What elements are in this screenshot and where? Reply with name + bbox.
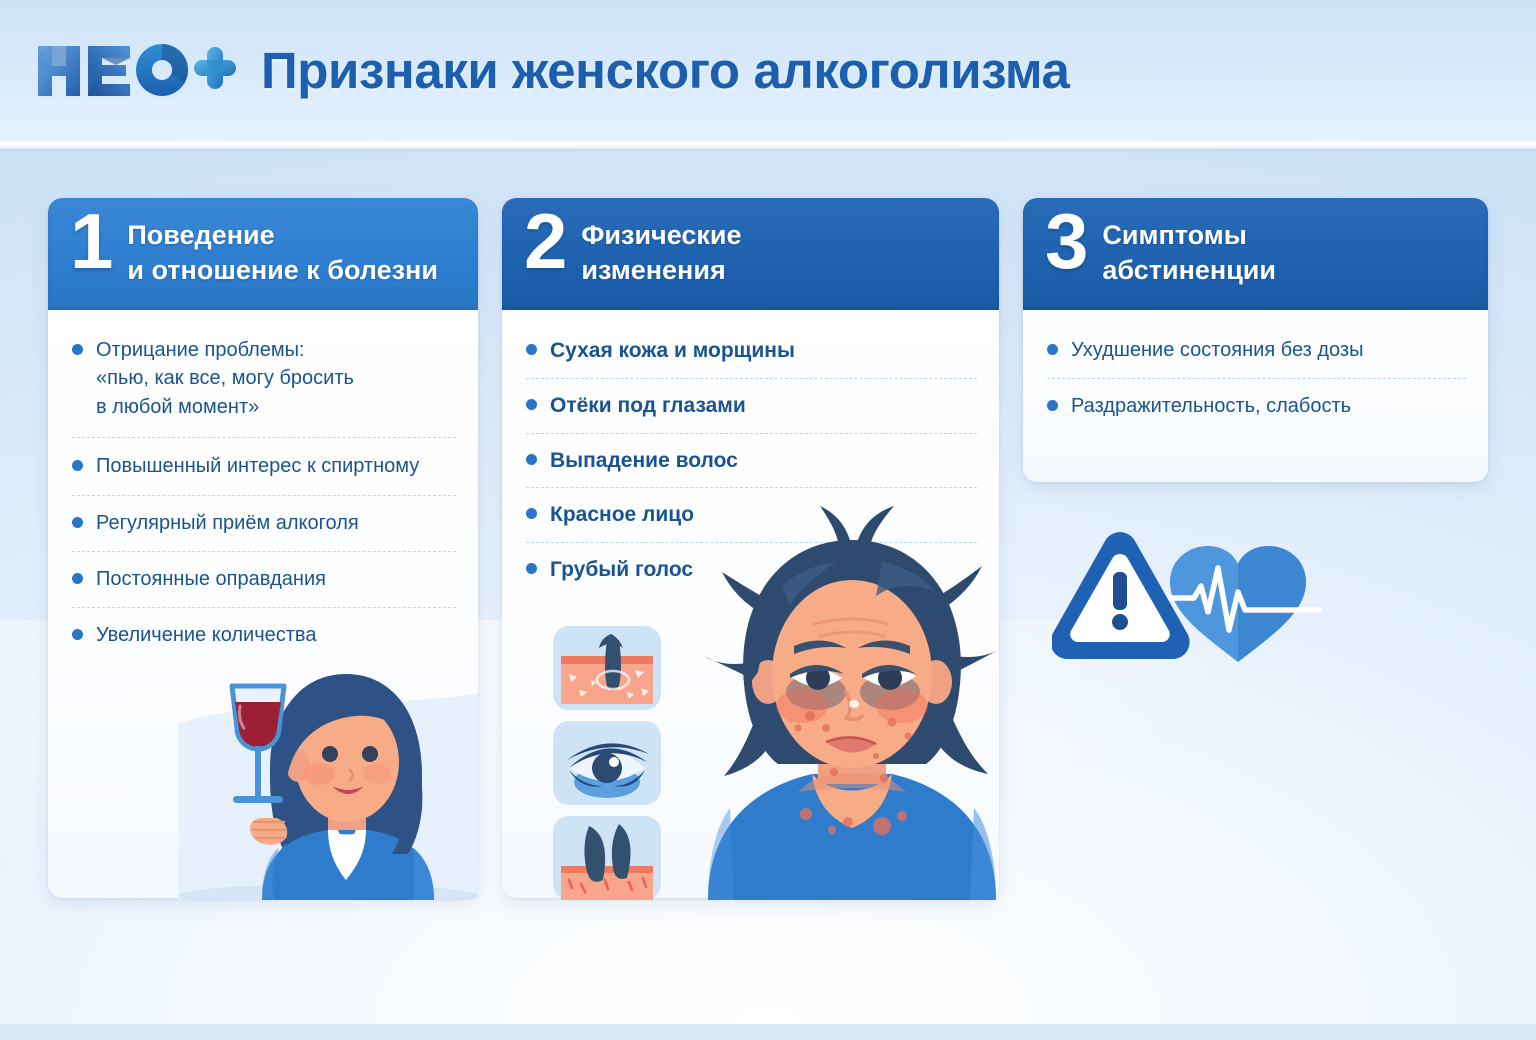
card-physical-header: 2 Физические изменения (502, 198, 999, 310)
bullet-dot-icon (526, 454, 537, 465)
bullet-dot-icon (72, 629, 83, 640)
list-item-line: «пью, как все, могу бросить (96, 364, 354, 392)
card-title-line2: и отношение к болезни (127, 253, 438, 288)
list-item-text: Грубый голос (550, 555, 693, 585)
physical-list: Сухая кожа и морщины Отёки под глазами В… (526, 336, 977, 597)
card-number: 2 (524, 210, 567, 274)
list-item-text: Сухая кожа и морщины (550, 336, 795, 366)
card-title: Поведение и отношение к болезни (127, 212, 438, 288)
list-item-line: Отрицание проблемы: (96, 336, 354, 364)
card-physical-body: Сухая кожа и морщины Отёки под глазами В… (502, 310, 999, 619)
list-item-text: Ухудшение состояния без дозы (1071, 336, 1363, 364)
list-item-line: в любой момент» (96, 393, 354, 421)
card-behavior-body: Отрицание проблемы: «пью, как все, могу … (48, 310, 478, 687)
list-item-text: Выпадение волос (550, 446, 738, 476)
card-title-line1: Симптомы (1102, 220, 1246, 250)
bullet-dot-icon (526, 508, 537, 519)
list-item-text: Отёки под глазами (550, 391, 746, 421)
list-item: Повышенный интерес к спиртному (72, 452, 456, 495)
card-title-line2: изменения (581, 253, 741, 288)
card-number: 3 (1045, 210, 1088, 274)
list-item: Ухудшение состояния без дозы (1047, 336, 1466, 379)
list-item-text: Раздражительность, слабость (1071, 392, 1351, 420)
card-title-line1: Физические (581, 220, 741, 250)
list-item-text: Красное лицо (550, 500, 694, 530)
list-item: Раздражительность, слабость (1047, 392, 1466, 434)
list-item: Красное лицо (526, 500, 977, 543)
list-item-text: Повышенный интерес к спиртному (96, 452, 419, 480)
withdrawal-list: Ухудшение состояния без дозы Раздражител… (1047, 336, 1466, 435)
bullet-dot-icon (72, 517, 83, 528)
infographic-page: Признаки женского алкоголизма 1 Поведени… (0, 0, 1536, 1024)
cards-row: 1 Поведение и отношение к болезни Отрица… (48, 198, 1490, 898)
bullet-dot-icon (1047, 344, 1058, 355)
behavior-list: Отрицание проблемы: «пью, как все, могу … (72, 336, 456, 664)
neo-plus-logo-icon (34, 36, 239, 104)
bullet-dot-icon (72, 460, 83, 471)
list-item-text: Увеличение количества (96, 621, 316, 649)
card-title: Симптомы абстиненции (1102, 212, 1276, 288)
card-withdrawal-body: Ухудшение состояния без дозы Раздражител… (1023, 310, 1488, 458)
list-item: Выпадение волос (526, 446, 977, 489)
list-item-text: Постоянные оправдания (96, 565, 326, 593)
list-item: Отрицание проблемы: «пью, как все, могу … (72, 336, 456, 438)
card-physical: 2 Физические изменения Сухая кожа и морщ… (502, 198, 999, 898)
list-item: Увеличение количества (72, 621, 456, 663)
bullet-dot-icon (526, 399, 537, 410)
bullet-dot-icon (72, 573, 83, 584)
page-header: Признаки женского алкоголизма (0, 0, 1536, 140)
card-behavior: 1 Поведение и отношение к болезни Отрица… (48, 198, 478, 898)
card-title: Физические изменения (581, 212, 741, 288)
page-title: Признаки женского алкоголизма (261, 45, 1070, 96)
bullet-dot-icon (1047, 400, 1058, 411)
list-item: Отёки под глазами (526, 391, 977, 434)
bullet-dot-icon (526, 344, 537, 355)
bullet-dot-icon (72, 344, 83, 355)
list-item: Грубый голос (526, 555, 977, 597)
card-behavior-header: 1 Поведение и отношение к болезни (48, 198, 478, 310)
list-item-text: Отрицание проблемы: «пью, как все, могу … (96, 336, 354, 421)
card-withdrawal-header: 3 Симптомы абстиненции (1023, 198, 1488, 310)
card-withdrawal: 3 Симптомы абстиненции Ухудшение состоян… (1023, 198, 1488, 482)
bullet-dot-icon (526, 563, 537, 574)
list-item: Сухая кожа и морщины (526, 336, 977, 379)
list-item: Постоянные оправдания (72, 565, 456, 608)
card-title-line2: абстиненции (1102, 253, 1276, 288)
card-number: 1 (70, 210, 113, 274)
list-item: Регулярный приём алкоголя (72, 509, 456, 552)
list-item-text: Регулярный приём алкоголя (96, 509, 359, 537)
card-title-line1: Поведение (127, 220, 274, 250)
